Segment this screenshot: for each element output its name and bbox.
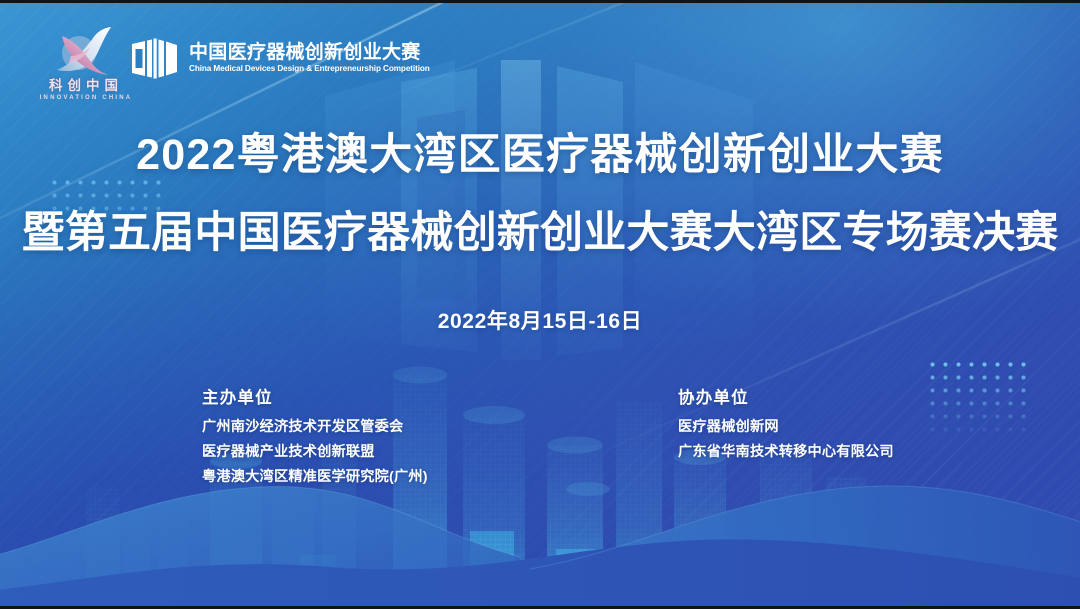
dot-grid-right-icon: [926, 358, 1026, 434]
host-organizer-item: 粤港澳大湾区精准医学研究院(广州): [202, 470, 428, 484]
coorganizer-block: 协办单位 医疗器械创新网 广东省华南技术转移中心有限公司: [678, 390, 894, 459]
logo-competition-cn: 中国医疗器械创新创业大赛: [189, 43, 430, 62]
host-organizer-item: 医疗器械产业技术创新联盟: [202, 445, 428, 459]
poster-date: 2022年8月15日-16日: [0, 311, 1080, 332]
logo-competition: 中国医疗器械创新创业大赛 China Medical Devices Desig…: [131, 36, 430, 81]
poster-title-line2: 暨第五届中国医疗器械创新创业大赛大湾区专场赛决赛: [0, 212, 1080, 255]
innovation-china-bird-icon: [49, 26, 123, 78]
host-organizer-block: 主办单位 广州南沙经济技术开发区管委会 医疗器械产业技术创新联盟 粤港澳大湾区精…: [202, 390, 428, 484]
logo-innovation-china-cn: 科创中国: [49, 79, 123, 93]
coorganizer-heading: 协办单位: [678, 390, 894, 407]
wave-shapes-icon: [0, 429, 1080, 609]
host-organizer-item: 广州南沙经济技术开发区管委会: [202, 420, 428, 434]
event-poster: 科创中国 INNOVATION CHINA 中国医疗器械创新创业大赛: [0, 0, 1080, 609]
logo-competition-en: China Medical Devices Design & Entrepren…: [189, 65, 430, 73]
logo-innovation-china-en: INNOVATION CHINA: [40, 95, 133, 101]
poster-title-line1: 2022粤港澳大湾区医疗器械创新创业大赛: [0, 134, 1080, 177]
host-organizer-heading: 主办单位: [202, 390, 428, 407]
open-book-door-icon: [131, 36, 178, 81]
frame-edge-top: [0, 0, 1080, 3]
coorganizer-item: 广东省华南技术转移中心有限公司: [678, 445, 894, 459]
coorganizer-item: 医疗器械创新网: [678, 420, 894, 434]
poster-header: 科创中国 INNOVATION CHINA 中国医疗器械创新创业大赛: [0, 0, 1080, 108]
logo-innovation-china: 科创中国 INNOVATION CHINA: [34, 26, 138, 102]
logo-competition-text: 中国医疗器械创新创业大赛 China Medical Devices Desig…: [189, 43, 430, 73]
